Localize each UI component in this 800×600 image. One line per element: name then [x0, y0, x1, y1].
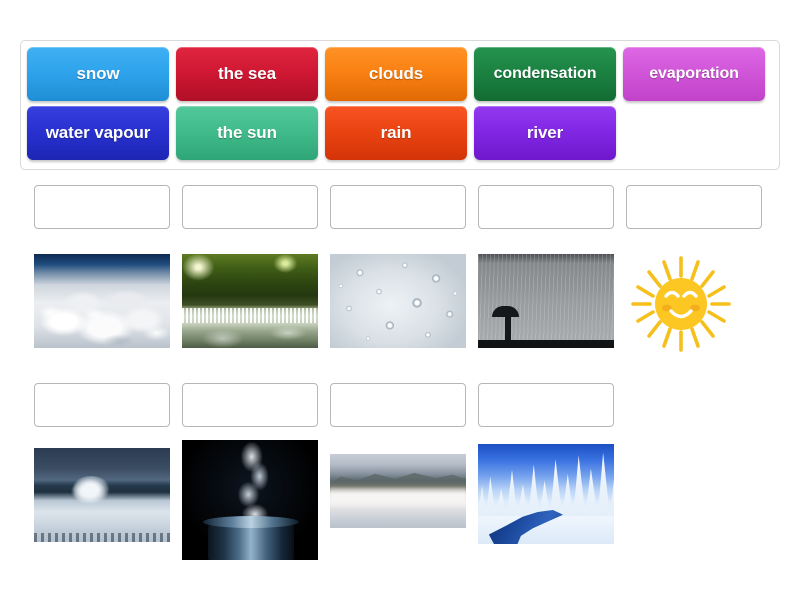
image-cell-snow: [478, 440, 614, 544]
clouds-photo: [34, 254, 170, 348]
person-silhouette-icon: [505, 313, 511, 340]
snowy-trees-icon: [478, 450, 614, 516]
pot-icon: [208, 523, 294, 560]
word-tile-label-inner: river: [527, 123, 563, 142]
steam-plume-icon: [231, 442, 277, 524]
word-tile-river[interactable]: river: [474, 106, 616, 160]
sun-illustration: [626, 254, 736, 354]
drop-zone-2-4[interactable]: [478, 383, 614, 427]
answer-row-1-images: [34, 254, 762, 354]
word-tile-label: water vapour: [46, 123, 151, 143]
snow-photo: [478, 444, 614, 544]
word-tile-evaporation[interactable]: evaporation: [623, 47, 765, 101]
drop-zone-1-3[interactable]: [330, 185, 466, 229]
drop-zone-1-1[interactable]: [34, 185, 170, 229]
image-cell-clouds: [34, 254, 170, 348]
image-cell-sea: [34, 440, 170, 542]
word-tile-label: river: [527, 123, 563, 143]
image-cell-rain: [478, 254, 614, 348]
image-cell-condensation: [330, 254, 466, 348]
river-photo: [182, 254, 318, 348]
drop-zone-1-5[interactable]: [626, 185, 762, 229]
image-cell-evaporation: [330, 440, 466, 528]
activity-page: snow the sea clouds condensation evapora…: [0, 0, 800, 600]
word-tile-label: evaporation: [649, 65, 739, 83]
word-tile-label: the sea: [218, 64, 276, 84]
word-bank-row-2: water vapour the sun rain river: [27, 106, 774, 160]
steam-photo: [182, 440, 318, 560]
evaporation-photo: [330, 454, 466, 528]
word-tile-the-sun[interactable]: the sun: [176, 106, 318, 160]
drop-zone-2-3[interactable]: [330, 383, 466, 427]
rain-photo: [478, 254, 614, 348]
word-bank: snow the sea clouds condensation evapora…: [20, 40, 780, 170]
drop-zone-2-1[interactable]: [34, 383, 170, 427]
word-tile-label: clouds: [369, 64, 423, 84]
word-tile-label: condensation: [494, 65, 597, 83]
word-tile-label: rain: [381, 123, 412, 143]
drop-zone-1-2[interactable]: [182, 185, 318, 229]
image-cell-sun: [626, 254, 762, 354]
image-cell-steam: [182, 440, 318, 560]
word-tile-label: snow: [76, 64, 119, 84]
word-tile-condensation[interactable]: condensation: [474, 47, 616, 101]
word-bank-row-1: snow the sea clouds condensation evapora…: [27, 47, 774, 101]
sea-photo: [34, 448, 170, 542]
word-tile-label: the sun: [217, 123, 277, 143]
image-cell-river: [182, 254, 318, 348]
word-tile-snow[interactable]: snow: [27, 47, 169, 101]
answer-row-2-drop-zones: [34, 383, 614, 427]
answer-row-2-images: [34, 440, 614, 560]
condensation-photo: [330, 254, 466, 348]
answer-row-1-drop-zones: [34, 185, 762, 229]
word-tile-clouds[interactable]: clouds: [325, 47, 467, 101]
word-tile-water-vapour[interactable]: water vapour: [27, 106, 169, 160]
drop-zone-2-2[interactable]: [182, 383, 318, 427]
word-tile-rain[interactable]: rain: [325, 106, 467, 160]
drop-zone-1-4[interactable]: [478, 185, 614, 229]
word-tile-the-sea[interactable]: the sea: [176, 47, 318, 101]
